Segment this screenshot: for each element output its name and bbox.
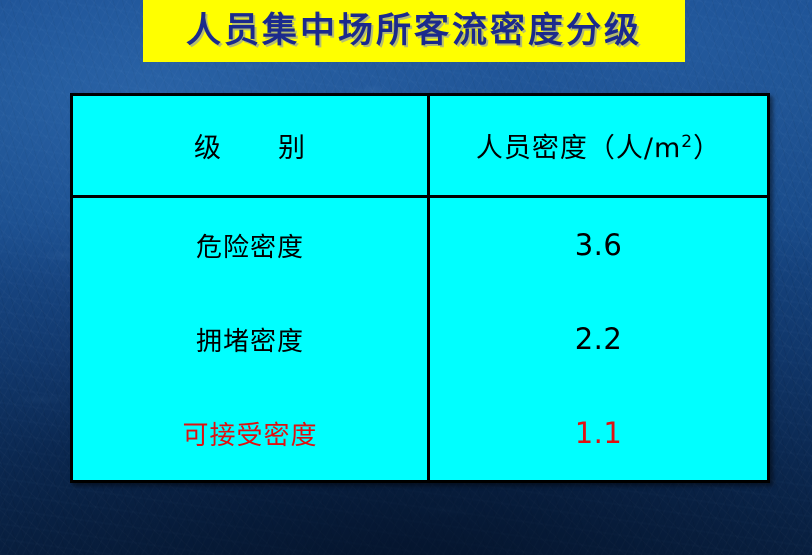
presentation-slide: 人员集中场所客流密度分级 级 别 人员密度（人/m2） 危险密度 3.6 bbox=[0, 0, 812, 555]
density-value: 2.2 bbox=[575, 322, 623, 356]
density-label-superscript: 2 bbox=[681, 132, 693, 152]
table-body: 危险密度 3.6 拥堵密度 2.2 可接受密度 1.1 bbox=[73, 198, 767, 480]
level-label: 可接受密度 bbox=[182, 415, 317, 452]
table-header-cell-level: 级 别 bbox=[73, 96, 430, 195]
level-label: 危险密度 bbox=[196, 227, 304, 264]
density-label-prefix: 人员密度（人/m bbox=[476, 133, 681, 164]
table-header-row: 级 别 人员密度（人/m2） bbox=[73, 96, 767, 198]
density-value: 3.6 bbox=[575, 228, 623, 262]
table-row: 危险密度 3.6 bbox=[73, 198, 767, 292]
table-header-density-label: 人员密度（人/m2） bbox=[476, 126, 721, 165]
page-title: 人员集中场所客流密度分级 bbox=[186, 8, 642, 48]
title-banner: 人员集中场所客流密度分级 bbox=[143, 0, 685, 62]
table-cell-density: 1.1 bbox=[430, 386, 767, 480]
table-cell-density: 3.6 bbox=[430, 198, 767, 292]
density-table: 级 别 人员密度（人/m2） 危险密度 3.6 拥堵密度 2.2 bbox=[70, 93, 770, 483]
table-cell-density: 2.2 bbox=[430, 292, 767, 386]
table-header-level-label: 级 别 bbox=[194, 126, 306, 165]
table-header-cell-density: 人员密度（人/m2） bbox=[430, 96, 767, 195]
table-cell-level: 可接受密度 bbox=[73, 386, 430, 480]
level-label: 拥堵密度 bbox=[196, 321, 304, 358]
density-label-suffix: ） bbox=[693, 133, 721, 164]
table-cell-level: 拥堵密度 bbox=[73, 292, 430, 386]
table-cell-level: 危险密度 bbox=[73, 198, 430, 292]
density-value: 1.1 bbox=[575, 416, 623, 450]
table-row: 可接受密度 1.1 bbox=[73, 386, 767, 480]
table-row: 拥堵密度 2.2 bbox=[73, 292, 767, 386]
